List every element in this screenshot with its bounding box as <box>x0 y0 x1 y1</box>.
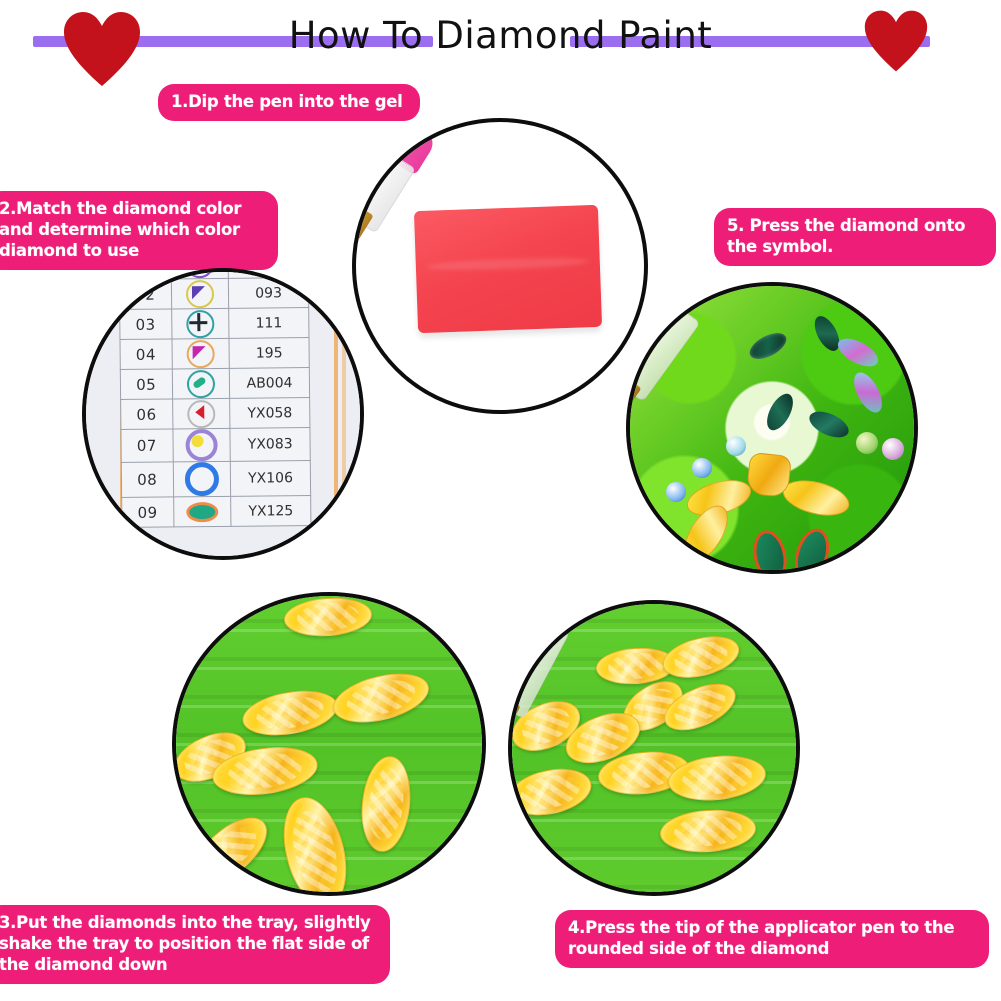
color-chart-code: YX125 <box>231 496 311 527</box>
step-2-label: 2.Match the diamond color and determine … <box>0 191 278 270</box>
gem-round <box>692 458 712 478</box>
color-chart-code: YX083 <box>230 428 310 462</box>
color-chart-number: 07 <box>121 429 173 463</box>
color-chart-code: YX058 <box>230 398 310 429</box>
open-ring-symbol <box>185 462 219 496</box>
color-chart-number: 04 <box>120 339 172 370</box>
color-chart-symbol-cell <box>172 398 230 429</box>
color-chart-symbol-cell <box>171 278 229 309</box>
color-chart-symbol-cell <box>173 496 231 527</box>
color-chart-number: 06 <box>121 399 173 430</box>
color-chart-code: AB004 <box>229 368 309 399</box>
step-5-photo <box>626 282 918 574</box>
page-title: How To Diamond Paint <box>0 14 1001 57</box>
color-chart-number: 03 <box>120 309 172 340</box>
step-5-label: 5. Press the diamond onto the symbol. <box>714 208 996 266</box>
color-chart-row: 05AB004 <box>120 368 309 400</box>
sheet-margin-line-right-2 <box>342 268 346 560</box>
color-chart-symbol-cell <box>171 308 229 339</box>
quarter-triangle-symbol <box>186 280 214 308</box>
color-chart-row: 03111 <box>120 308 309 340</box>
leaf-marquise-symbol <box>186 501 218 521</box>
gem-round <box>856 432 878 454</box>
color-chart-symbol-cell <box>172 428 230 462</box>
gem-round <box>726 436 746 456</box>
color-chart-symbol-cell <box>173 461 231 497</box>
color-chart-row: 07YX083 <box>121 428 310 463</box>
filled-dot-symbol <box>185 429 217 461</box>
color-chart-row: 09YX125 <box>122 496 311 528</box>
color-chart-row: 06YX058 <box>121 398 310 430</box>
step-3-photo <box>172 592 486 896</box>
step-1-photo <box>352 118 648 414</box>
plus-cross-symbol <box>186 310 214 338</box>
gem-round <box>882 438 904 460</box>
color-chart-number: 08 <box>121 462 173 498</box>
step-4-label: 4.Press the tip of the applicator pen to… <box>555 910 989 968</box>
color-chart-row: 08YX106 <box>121 461 310 498</box>
color-chart-code: 093 <box>228 278 308 309</box>
color-chart-code: YX106 <box>230 461 310 497</box>
step-2-photo: 0102802093031110419505AB00406YX05807YX08… <box>82 268 364 560</box>
sheet-margin-line-right <box>334 268 338 560</box>
color-code-table: 0102802093031110419505AB00406YX05807YX08… <box>119 268 312 528</box>
step-4-photo <box>508 600 800 896</box>
step-3-label: 3.Put the diamonds into the tray, slight… <box>0 905 390 984</box>
gem-round <box>666 482 686 502</box>
color-chart-number: 02 <box>119 279 171 310</box>
color-chart-symbol-cell <box>172 368 230 399</box>
how-to-diamond-paint-infographic: How To Diamond Paint 1.Dip the pen into … <box>0 0 1001 1001</box>
color-chart-number: 05 <box>120 369 172 400</box>
quarter-triangle-symbol <box>186 340 214 368</box>
color-chart-code: 195 <box>229 338 309 369</box>
left-chevron-symbol <box>187 400 215 428</box>
color-chart-row: 02093 <box>119 278 308 310</box>
color-chart-sheet: 0102802093031110419505AB00406YX05807YX08… <box>82 268 364 560</box>
pink-gel-block <box>414 205 602 333</box>
color-chart-number: 09 <box>122 497 174 528</box>
step-1-label: 1.Dip the pen into the gel <box>158 84 420 121</box>
color-chart-code: 111 <box>229 308 309 339</box>
color-chart-symbol-cell <box>172 338 230 369</box>
color-chart-row: 04195 <box>120 338 309 370</box>
slanted-capsule-symbol <box>187 370 215 398</box>
